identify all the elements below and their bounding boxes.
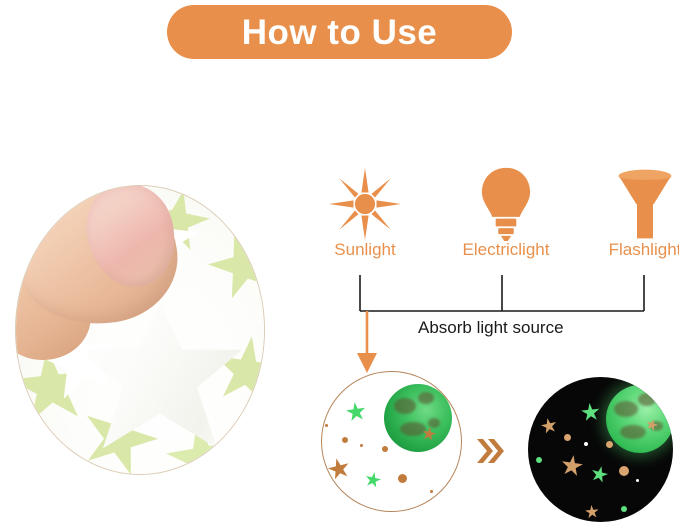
moon-sticker-glowing — [606, 385, 673, 453]
brown-dot — [382, 446, 388, 452]
absorb-light-source-caption: Absorb light source — [418, 318, 564, 338]
tan-dot — [606, 441, 613, 448]
tan-star — [584, 504, 599, 519]
moon-sticker-daylight — [384, 384, 452, 452]
product-photo-peeling-sticker — [16, 186, 264, 474]
double-chevron-right-icon — [476, 438, 504, 464]
how-to-use-infographic: How to Use — [0, 0, 679, 525]
light-source-electriclight: Electriclight — [446, 168, 566, 260]
brown-dot — [360, 444, 363, 447]
sun-icon — [305, 168, 425, 240]
flashlight-icon — [585, 168, 679, 240]
brown-dot — [325, 424, 328, 427]
light-source-label: Sunlight — [305, 240, 425, 260]
green-star — [589, 464, 610, 485]
page-title-banner: How to Use — [167, 5, 512, 59]
thumbnail — [76, 186, 187, 297]
green-star — [580, 402, 601, 423]
page-title: How to Use — [242, 15, 438, 50]
green-star — [364, 471, 383, 490]
green-dot — [621, 506, 627, 512]
brown-star — [326, 456, 353, 483]
sticker-sheet — [16, 186, 264, 474]
glow-in-the-dark-view-circle — [528, 377, 673, 522]
lightbulb-icon — [446, 168, 566, 240]
green-dot — [536, 457, 542, 463]
tan-dot — [564, 434, 571, 441]
brown-dot — [430, 490, 433, 493]
white-dot — [636, 479, 639, 482]
white-dot — [584, 442, 588, 446]
light-source-label: Flashlight — [585, 240, 679, 260]
tan-star — [560, 454, 585, 479]
daylight-view-circle — [321, 371, 462, 512]
green-star-sticker — [200, 221, 264, 308]
green-star — [345, 401, 368, 424]
absorb-arrow-icon — [352, 311, 382, 375]
brown-dot — [342, 437, 348, 443]
light-source-sunlight: Sunlight — [305, 168, 425, 260]
light-source-label: Electriclight — [446, 240, 566, 260]
light-source-flashlight: Flashlight — [585, 168, 679, 260]
brown-dot — [398, 474, 407, 483]
tan-star — [540, 417, 559, 436]
tan-dot — [619, 466, 629, 476]
